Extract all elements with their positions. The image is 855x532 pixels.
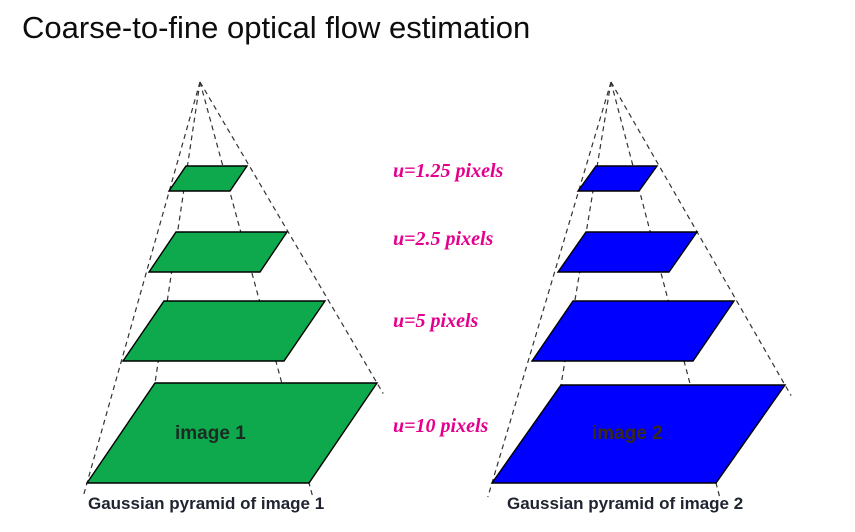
pyramid-right-slab-level-0: [578, 166, 657, 191]
pyramid-left-slab-level-1: [149, 232, 287, 272]
pyramid-right-slab-level-1: [558, 232, 697, 272]
optical-flow-pyramid-diagram: [0, 0, 855, 532]
pyramid-right-slab-level-2: [532, 301, 734, 361]
slide-canvas: Coarse-to-fine optical flow estimation u…: [0, 0, 855, 532]
caption-pyramid-image-2: Gaussian pyramid of image 2: [507, 494, 743, 514]
image1-base-layer-label: image 1: [175, 423, 246, 445]
caption-pyramid-image-1: Gaussian pyramid of image 1: [88, 494, 324, 514]
flow-label-level-3: u=10 pixels: [393, 415, 488, 438]
flow-label-level-0: u=1.25 pixels: [393, 160, 503, 183]
image2-base-layer-label: image 2: [592, 423, 663, 445]
flow-label-level-1: u=2.5 pixels: [393, 228, 493, 251]
flow-label-level-2: u=5 pixels: [393, 310, 478, 333]
pyramid-left-slab-level-0: [169, 166, 247, 191]
pyramid-left-slab-level-2: [123, 301, 325, 361]
